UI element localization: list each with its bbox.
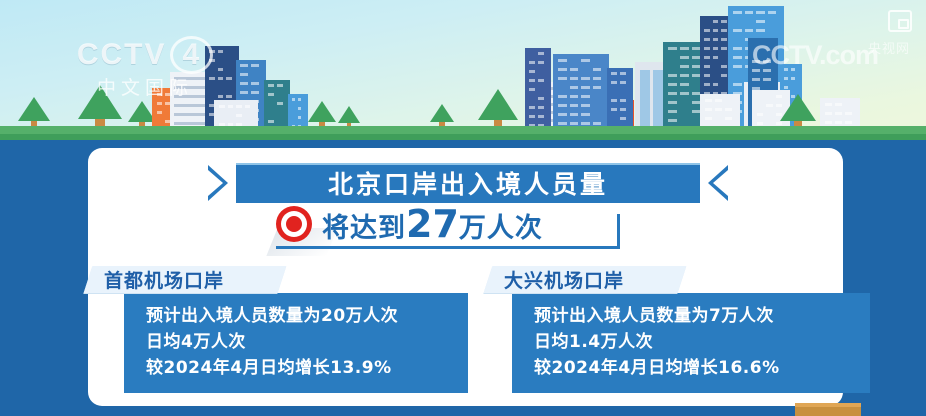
building-window xyxy=(704,29,710,32)
building-window xyxy=(713,38,719,41)
building-window xyxy=(620,72,626,75)
building-window xyxy=(581,77,590,80)
watermark-chinese-text: 央视网 xyxy=(868,38,910,57)
building-window xyxy=(721,38,727,41)
building-window xyxy=(721,65,727,68)
building-window xyxy=(570,77,579,80)
building-window xyxy=(756,11,765,14)
building-window xyxy=(680,74,689,77)
building-window xyxy=(611,99,617,102)
building-window xyxy=(593,122,602,125)
glass-panel xyxy=(640,70,650,130)
building-window xyxy=(240,64,248,67)
building-window xyxy=(825,121,832,124)
building-window xyxy=(715,99,722,102)
chevron-left-decoration xyxy=(208,165,228,201)
cctv-logo-text: CCTV xyxy=(77,38,167,71)
building-window xyxy=(292,98,295,101)
tree-icon xyxy=(18,97,50,126)
building-window xyxy=(268,84,274,87)
building-window xyxy=(721,47,727,50)
card-line: 较2024年4月日均增长13.9% xyxy=(146,355,454,381)
building-window xyxy=(791,77,795,80)
subtitle-suffix: 万人次 xyxy=(459,213,543,244)
building-window xyxy=(298,98,301,101)
card-tab-label: 首都机场口岸 xyxy=(104,266,224,293)
card-tab: 首都机场口岸 xyxy=(84,266,287,293)
building-window xyxy=(570,113,579,116)
building-window xyxy=(733,29,742,32)
building-window xyxy=(593,77,602,80)
building-window xyxy=(277,84,283,87)
card-capital-airport: 首都机场口岸 预计出入境人员数量为20万人次 日均4万人次 较2024年4月日均… xyxy=(88,266,468,393)
building-window xyxy=(733,11,742,14)
tower-building xyxy=(525,48,551,134)
building-window xyxy=(529,106,535,109)
watermark-text: CCTV.com xyxy=(752,40,878,70)
building-window xyxy=(766,104,772,107)
building-window xyxy=(721,74,727,77)
glass-panel xyxy=(653,70,663,130)
building-window xyxy=(680,92,689,95)
building-window xyxy=(745,29,754,32)
building-window xyxy=(538,52,544,55)
card-line: 日均1.4万人次 xyxy=(534,329,856,355)
building-window xyxy=(835,121,842,124)
building-window xyxy=(581,86,590,89)
building-window xyxy=(236,114,242,117)
building-window xyxy=(721,29,727,32)
card-body: 预计出入境人员数量为20万人次 日均4万人次 较2024年4月日均增长13.9% xyxy=(124,293,468,393)
building-window xyxy=(538,97,544,100)
building-window xyxy=(757,113,763,116)
cctv-logo-subtitle: 中文国际 xyxy=(55,76,235,100)
tree-icon xyxy=(478,89,518,126)
building-window xyxy=(725,108,732,111)
card-line: 日均4万人次 xyxy=(146,329,454,355)
building-window xyxy=(593,68,602,71)
building-window xyxy=(245,105,251,108)
building-window xyxy=(240,91,248,94)
broadcast-graphic: CCTV4 中文国际 CCTV.com 央视网 北京口岸出入境人员量 将达到27… xyxy=(0,0,926,416)
building-window xyxy=(157,111,162,114)
building-window xyxy=(538,115,544,118)
building-window xyxy=(611,72,617,75)
building-window xyxy=(581,113,590,116)
card-tab-label: 大兴机场口岸 xyxy=(504,266,624,293)
building-window xyxy=(581,122,590,125)
building-window xyxy=(570,86,579,89)
banner-title: 北京口岸出入境人员量 xyxy=(236,163,700,203)
building-window xyxy=(529,88,535,91)
building-window xyxy=(680,65,689,68)
building-window xyxy=(219,105,225,108)
card-tab: 大兴机场口岸 xyxy=(484,266,687,293)
picture-in-picture-icon xyxy=(888,10,912,32)
building-window xyxy=(733,65,742,68)
card-line: 预计出入境人员数量为7万人次 xyxy=(534,303,856,329)
building-window xyxy=(529,115,535,118)
building-window xyxy=(570,104,579,107)
building-window xyxy=(721,20,727,23)
cctv-com-watermark: CCTV.com 央视网 xyxy=(752,40,912,76)
chevron-right-decoration xyxy=(708,165,728,201)
building-window xyxy=(298,116,301,119)
card-line: 预计出入境人员数量为20万人次 xyxy=(146,303,454,329)
building-window xyxy=(529,70,535,73)
building-window xyxy=(784,77,788,80)
building-window xyxy=(620,99,626,102)
building-window xyxy=(251,82,259,85)
building-window xyxy=(668,119,677,122)
building-window xyxy=(713,56,719,59)
building-window xyxy=(251,91,259,94)
building-window xyxy=(704,74,710,77)
tower-building xyxy=(553,54,609,134)
wood-decoration xyxy=(795,403,861,416)
cctv-channel-number: 4 xyxy=(170,36,213,74)
building-window xyxy=(570,95,579,98)
building-window xyxy=(715,108,722,111)
building-window xyxy=(725,117,732,120)
tree-icon xyxy=(430,104,454,126)
building-window xyxy=(680,47,689,50)
building-window xyxy=(570,122,579,125)
building-window xyxy=(680,83,689,86)
building-window xyxy=(768,11,777,14)
building-window xyxy=(581,95,590,98)
building-window xyxy=(277,102,283,105)
building-window xyxy=(835,112,842,115)
subtitle-underline xyxy=(276,246,620,249)
building-window xyxy=(668,110,677,113)
building-window xyxy=(236,105,242,108)
card-daxing-airport: 大兴机场口岸 预计出入境人员数量为7万人次 日均1.4万人次 较2024年4月日… xyxy=(476,266,870,393)
building-window xyxy=(538,106,544,109)
building-window xyxy=(704,56,710,59)
building-window xyxy=(558,77,567,80)
building-window xyxy=(713,20,719,23)
building-window xyxy=(668,74,677,77)
building-window xyxy=(529,79,535,82)
building-window xyxy=(157,102,162,105)
building-window xyxy=(704,38,710,41)
subtitle-end-tick xyxy=(617,214,620,249)
tree-icon xyxy=(780,94,816,126)
headline-subtitle: 将达到27万人次 xyxy=(322,202,543,246)
building-window xyxy=(620,117,626,120)
building-window xyxy=(240,73,248,76)
building-window xyxy=(228,105,234,108)
building-window xyxy=(558,113,567,116)
tree-icon xyxy=(308,101,336,126)
building-window xyxy=(680,56,689,59)
cctv-logo-wordmark: CCTV4 xyxy=(55,36,235,74)
building-window xyxy=(756,29,765,32)
building-window xyxy=(611,81,617,84)
building-window xyxy=(558,104,567,107)
building-window xyxy=(251,64,259,67)
building-window xyxy=(705,99,712,102)
building-window xyxy=(538,61,544,64)
building-window xyxy=(752,78,760,81)
cctv-logo: CCTV4 中文国际 xyxy=(55,36,235,94)
tower-building xyxy=(607,68,633,134)
building-window xyxy=(581,59,590,62)
building-window xyxy=(570,68,579,71)
building-window xyxy=(668,83,677,86)
subtitle-number: 27 xyxy=(406,202,459,246)
subtitle-prefix: 将达到 xyxy=(322,213,406,244)
tree-icon xyxy=(338,106,360,126)
building-window xyxy=(298,107,301,110)
building-window xyxy=(756,20,765,23)
building-window xyxy=(620,81,626,84)
building-window xyxy=(757,122,763,125)
building-window xyxy=(713,83,719,86)
building-window xyxy=(558,122,567,125)
building-window xyxy=(825,112,832,115)
headline-banner: 北京口岸出入境人员量 xyxy=(208,163,728,203)
building-window xyxy=(733,83,742,86)
building-window xyxy=(668,47,677,50)
building-window xyxy=(620,108,626,111)
building-window xyxy=(538,79,544,82)
building-window xyxy=(713,29,719,32)
building-window xyxy=(611,108,617,111)
card-body: 预计出入境人员数量为7万人次 日均1.4万人次 较2024年4月日均增长16.6… xyxy=(512,293,870,393)
building-window xyxy=(268,93,274,96)
building-window xyxy=(268,120,274,123)
building-window xyxy=(558,95,567,98)
building-window xyxy=(558,68,567,71)
building-window xyxy=(784,86,788,89)
building-window xyxy=(705,108,712,111)
building-window xyxy=(593,86,602,89)
building-window xyxy=(733,56,742,59)
building-window xyxy=(668,101,677,104)
building-window xyxy=(705,117,712,120)
building-window xyxy=(763,78,771,81)
building-window xyxy=(745,11,754,14)
building-window xyxy=(240,82,248,85)
building-window xyxy=(704,65,710,68)
building-window xyxy=(704,83,710,86)
building-window xyxy=(845,121,852,124)
headline-subtitle-row: 将达到27万人次 xyxy=(276,202,676,246)
building-window xyxy=(845,112,852,115)
building-window xyxy=(668,92,677,95)
building-window xyxy=(835,103,842,106)
ground-highlight xyxy=(0,126,926,134)
building-window xyxy=(529,61,535,64)
building-window xyxy=(733,47,742,50)
building-window xyxy=(581,104,590,107)
card-line: 较2024年4月日均增长16.6% xyxy=(534,355,856,381)
building-window xyxy=(713,47,719,50)
building-window xyxy=(558,59,567,62)
building-window xyxy=(704,47,710,50)
target-icon xyxy=(276,206,312,242)
building-window xyxy=(825,103,832,106)
